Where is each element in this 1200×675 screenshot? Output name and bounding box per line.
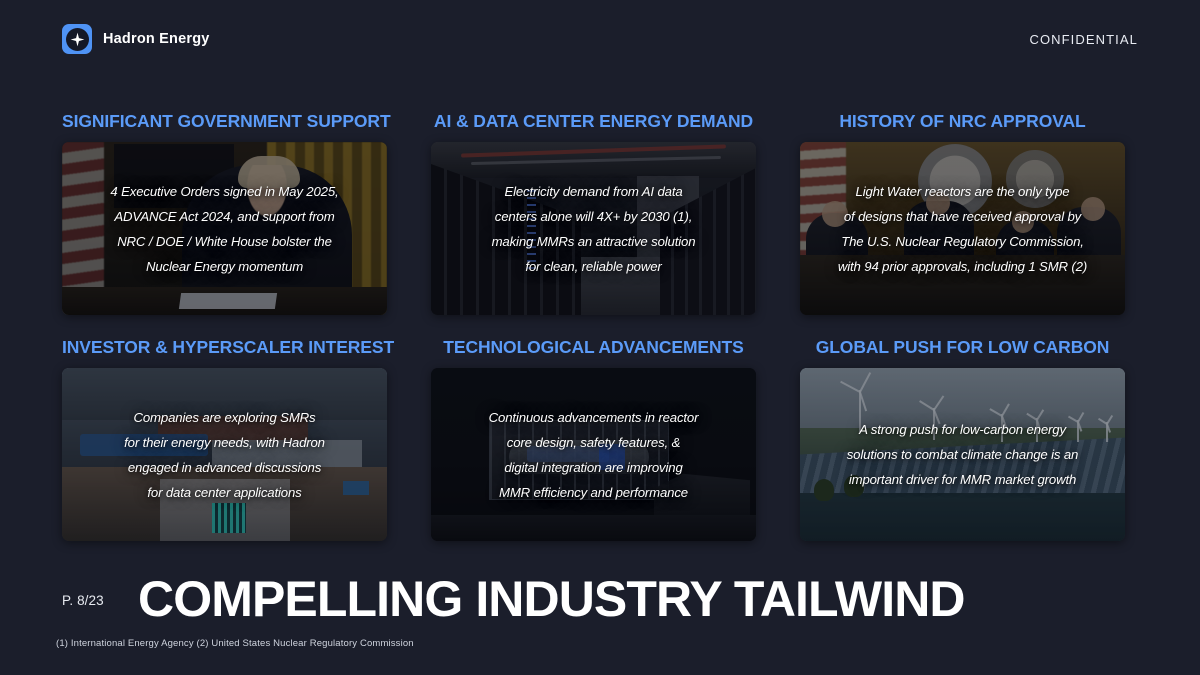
- card-image: Light Water reactors are the only type o…: [800, 142, 1125, 315]
- card-body-text: Continuous advancements in reactor core …: [431, 368, 756, 541]
- card-technological-advancements[interactable]: TECHNOLOGICAL ADVANCEMENTS Continuous ad…: [431, 334, 756, 560]
- card-title: SIGNIFICANT GOVERNMENT SUPPORT: [62, 108, 387, 142]
- card-history-of-nrc-approval[interactable]: HISTORY OF NRC APPROVAL: [800, 108, 1125, 334]
- confidential-label: CONFIDENTIAL: [1029, 32, 1138, 47]
- card-image: A strong push for low-carbon energy solu…: [800, 368, 1125, 541]
- card-grid: SIGNIFICANT GOVERNMENT SUPPORT 4 Executi…: [62, 108, 1140, 560]
- card-global-push-for-low-carbon[interactable]: GLOBAL PUSH FOR LOW CARBON: [800, 334, 1125, 560]
- page-number: P. 8/23: [62, 593, 104, 608]
- card-image: Continuous advancements in reactor core …: [431, 368, 756, 541]
- brand: Hadron Energy: [62, 24, 210, 54]
- slide-title: COMPELLING INDUSTRY TAILWIND: [138, 570, 965, 628]
- card-title: GLOBAL PUSH FOR LOW CARBON: [800, 334, 1125, 368]
- card-image: Companies are exploring SMRs for their e…: [62, 368, 387, 541]
- card-significant-government-support[interactable]: SIGNIFICANT GOVERNMENT SUPPORT 4 Executi…: [62, 108, 387, 334]
- card-body-text: A strong push for low-carbon energy solu…: [800, 368, 1125, 541]
- card-title: TECHNOLOGICAL ADVANCEMENTS: [431, 334, 756, 368]
- slide-header: Hadron Energy CONFIDENTIAL: [0, 0, 1200, 78]
- card-body-text: Companies are exploring SMRs for their e…: [62, 368, 387, 541]
- card-investor-hyperscaler-interest[interactable]: INVESTOR & HYPERSCALER INTEREST Companie…: [62, 334, 387, 560]
- hadron-logo-icon: [62, 24, 92, 54]
- brand-name: Hadron Energy: [103, 31, 210, 47]
- card-body-text: Light Water reactors are the only type o…: [800, 142, 1125, 315]
- footnotes: (1) International Energy Agency (2) Unit…: [56, 638, 414, 649]
- card-image: Electricity demand from AI data centers …: [431, 142, 756, 315]
- card-body-text: Electricity demand from AI data centers …: [431, 142, 756, 315]
- slide: Hadron Energy CONFIDENTIAL SIGNIFICANT G…: [0, 0, 1200, 675]
- card-body-text: 4 Executive Orders signed in May 2025, A…: [62, 142, 387, 315]
- card-title: HISTORY OF NRC APPROVAL: [800, 108, 1125, 142]
- card-image: 4 Executive Orders signed in May 2025, A…: [62, 142, 387, 315]
- card-ai-data-center-energy-demand[interactable]: AI & DATA CENTER ENERGY DEMAND Electrici…: [431, 108, 756, 334]
- card-title: AI & DATA CENTER ENERGY DEMAND: [431, 108, 756, 142]
- card-title: INVESTOR & HYPERSCALER INTEREST: [62, 334, 387, 368]
